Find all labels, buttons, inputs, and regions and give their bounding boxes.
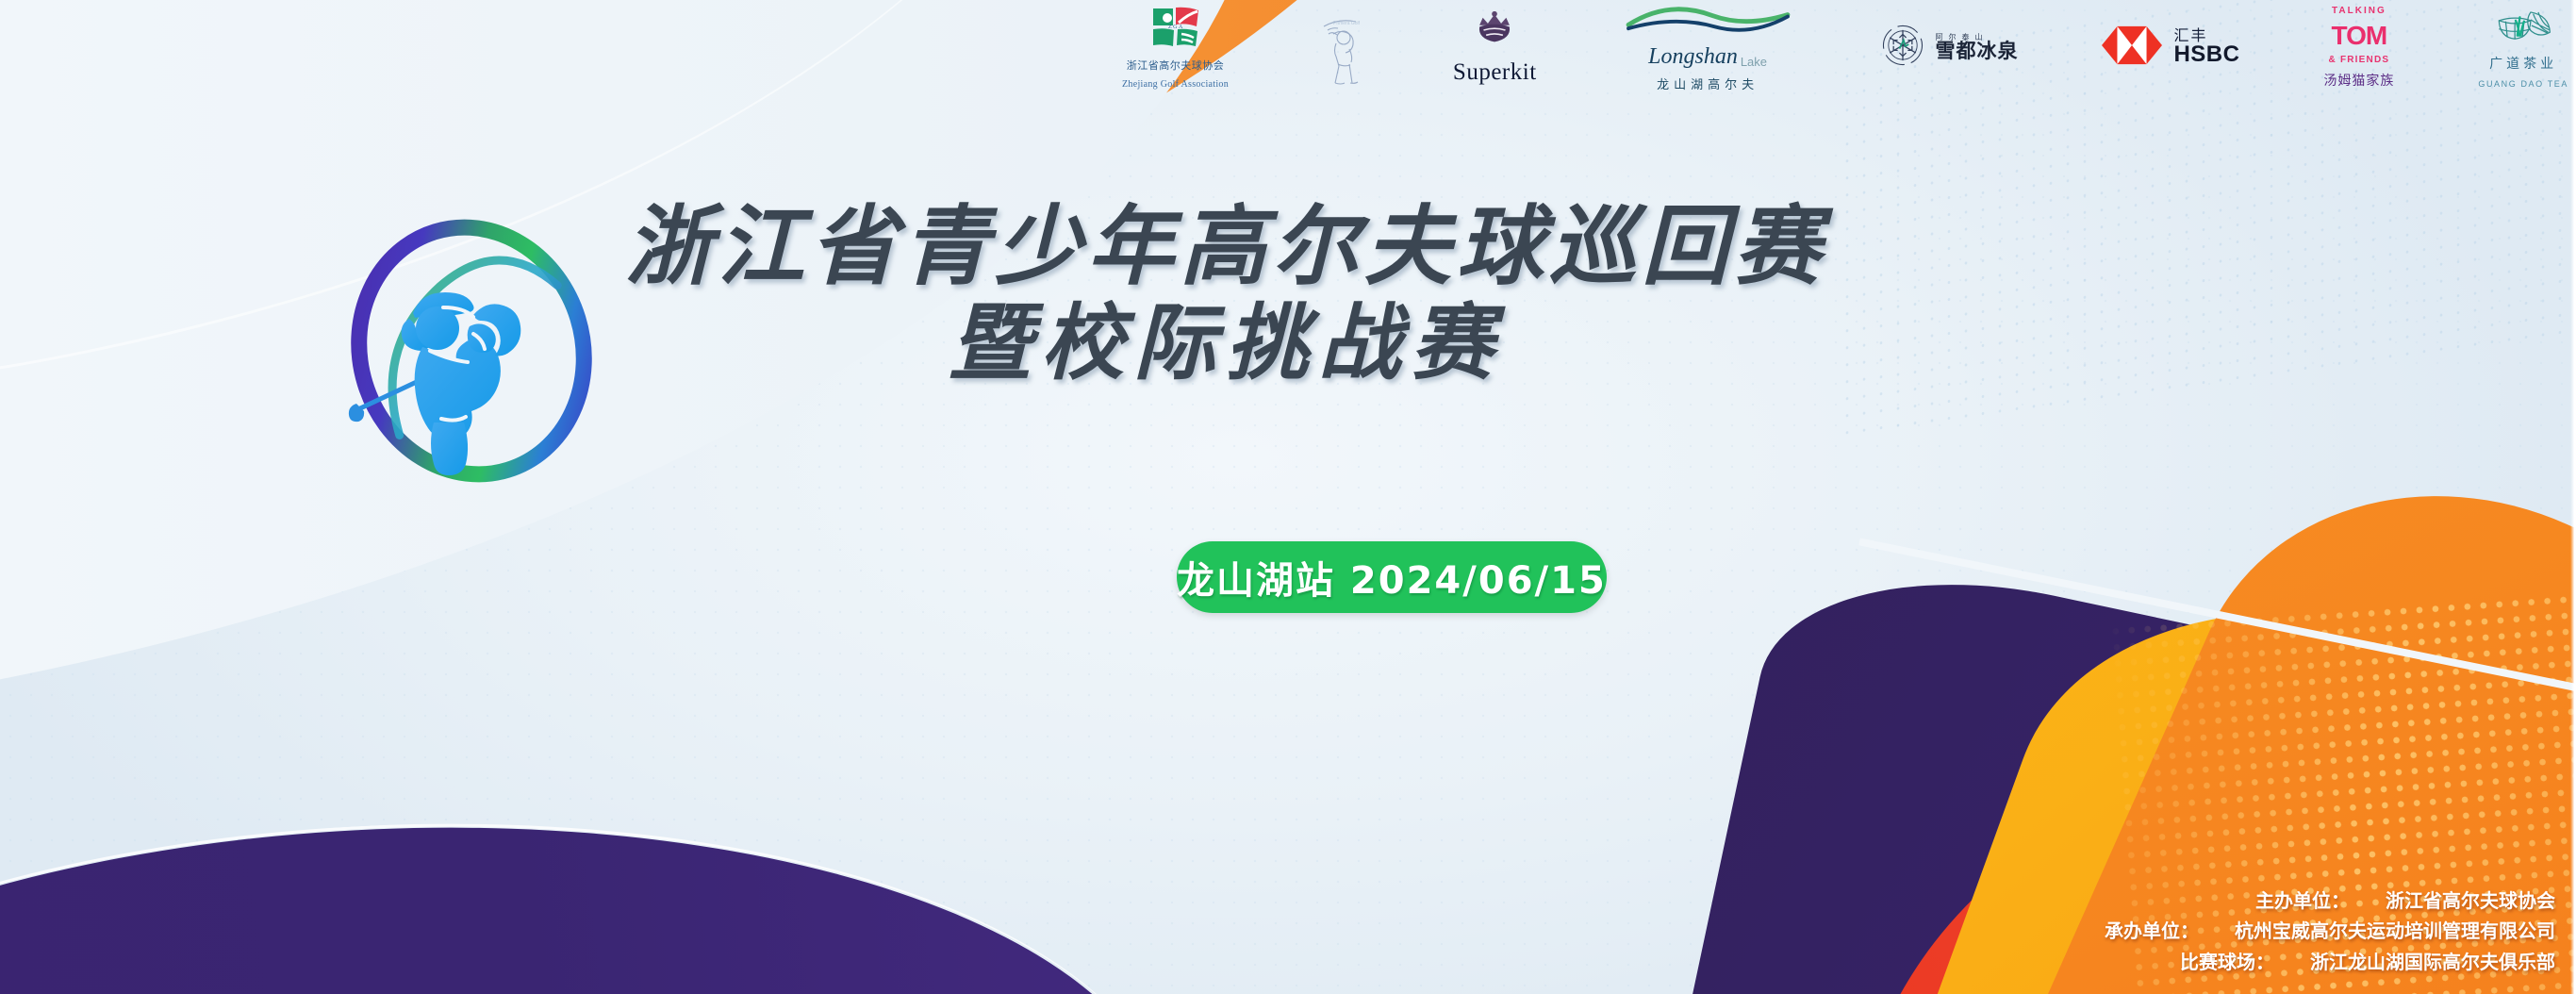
tom-talking-word: TALKING xyxy=(2332,7,2386,16)
event-banner: ZGA 浙江省高尔夫球协会 Zhejiang Golf Association xyxy=(0,0,2576,994)
longshan-name-cn: 龙山湖高尔夫 xyxy=(1657,79,1759,91)
guangdao-name-en: GUANG DAO TEA xyxy=(2478,80,2568,89)
page-title-line2: 暨校际挑战赛 xyxy=(603,297,1848,390)
sponsor-logo-xuedu-bingquan: 阿尔泰山 雪都冰泉 xyxy=(1879,22,2019,74)
date-badge: 龙山湖站 2024/06/15 xyxy=(1177,541,1607,613)
snowflake-compass-icon xyxy=(1879,22,1926,74)
credit-value-venue: 浙江龙山湖国际高尔夫俱乐部 xyxy=(2310,947,2555,977)
credit-value-organizer: 浙江省高尔夫球协会 xyxy=(2386,886,2555,916)
zga-flag-icon: ZGA xyxy=(1150,5,1201,50)
sponsor-logo-longshan-lake: Longshan Lake 龙山湖高尔夫 xyxy=(1621,3,1795,91)
hsbc-hexagon-icon xyxy=(2102,23,2162,73)
credit-label-venue: 比赛球场： xyxy=(2180,947,2293,977)
superkit-crown-icon xyxy=(1473,11,1516,53)
hsbc-wordmark: HSBC xyxy=(2173,43,2239,66)
sponsor-logo-strip: ZGA 浙江省高尔夫球协会 Zhejiang Golf Association xyxy=(1122,4,2576,91)
sponsor-logo-guang-dao-tea: 广道茶业 GUANG DAO TEA xyxy=(2478,7,2568,89)
page-title-line1: 浙江省青少年高尔夫球巡回赛 xyxy=(603,200,1848,293)
longshan-swoosh-icon xyxy=(1621,3,1795,38)
sponsor-logo-zhejiang-golf-association: ZGA 浙江省高尔夫球协会 Zhejiang Golf Association xyxy=(1122,5,1229,90)
superkit-wordmark: Superkit xyxy=(1453,60,1537,84)
credit-row-organizer: 主办单位： 浙江省高尔夫球协会 xyxy=(2105,886,2555,916)
xuedu-name-cn: 雪都冰泉 xyxy=(1936,41,2019,61)
credits-block: 主办单位： 浙江省高尔夫球协会 承办单位： 杭州宝威高尔夫运动培训管理有限公司 … xyxy=(2105,886,2555,977)
sponsor-logo-superkit: Superkit xyxy=(1453,11,1537,84)
tom-wordmark: TOM xyxy=(2332,24,2387,49)
zga-name-en: Zhejiang Golf Association xyxy=(1122,80,1229,90)
svg-text:ZGA: ZGA xyxy=(1168,25,1184,30)
credit-row-venue: 比赛球场： 浙江龙山湖国际高尔夫俱乐部 xyxy=(2105,947,2555,977)
longshan-lake-word: Lake xyxy=(1741,56,1767,68)
tom-name-cn: 汤姆猫家族 xyxy=(2323,75,2394,88)
right-edge-highlight xyxy=(2570,0,2576,994)
sponsor-logo-talking-tom-and-friends: TALKING TOM & FRIENDS 汤姆猫家族 xyxy=(2323,7,2394,89)
credit-value-host: 杭州宝威高尔夫运动培训管理有限公司 xyxy=(2235,916,2555,946)
golfer-line-art-icon: Primera Golf xyxy=(1313,9,1369,85)
zga-name-cn: 浙江省高尔夫球协会 xyxy=(1127,60,1225,71)
title-block: 浙江省青少年高尔夫球巡回赛 暨校际挑战赛 xyxy=(603,200,1848,390)
longshan-wordmark: Longshan xyxy=(1648,45,1738,68)
tom-friends-word: & FRIENDS xyxy=(2329,56,2390,65)
golfer-swing-ring-emblem xyxy=(332,209,605,492)
credit-label-host: 承办单位： xyxy=(2105,916,2218,946)
svg-text:Primera Golf: Primera Golf xyxy=(1333,21,1361,26)
credit-row-host: 承办单位： 杭州宝威高尔夫运动培训管理有限公司 xyxy=(2105,916,2555,946)
sponsor-logo-hsbc: 汇丰 HSBC xyxy=(2102,23,2239,73)
tea-cup-leaf-icon xyxy=(2494,7,2552,50)
sponsor-logo-primera-golf: Primera Golf xyxy=(1313,9,1369,85)
credit-label-organizer: 主办单位： xyxy=(2255,886,2369,916)
guangdao-name-cn: 广道茶业 xyxy=(2489,58,2557,71)
date-badge-label: 龙山湖站 2024/06/15 xyxy=(1177,550,1607,605)
